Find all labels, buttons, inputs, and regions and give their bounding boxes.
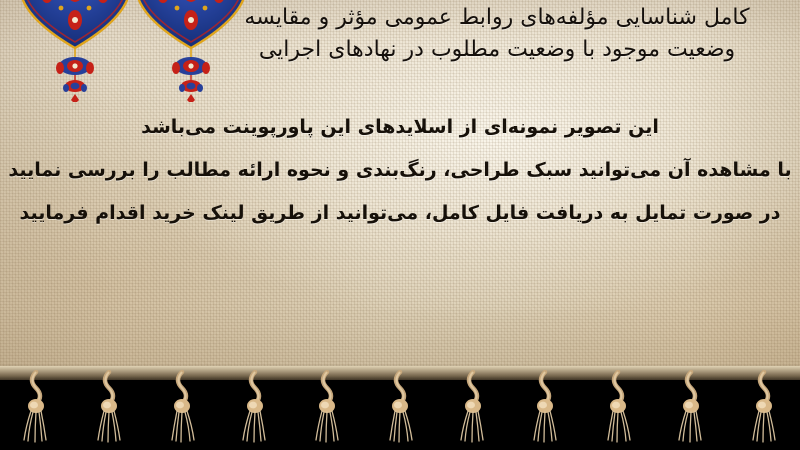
slide-title: کامل شناسایی مؤلفه‌های روابط عمومی مؤثر … (212, 2, 782, 66)
body-line-3: در صورت تمایل به دریافت فایل کامل، می‌تو… (8, 198, 792, 229)
fringe-tassel (668, 370, 714, 444)
fringe-tassel (13, 370, 59, 444)
body-line-1: این تصویر نمونه‌ای از اسلایدهای این پاور… (8, 112, 792, 143)
text-layer: کامل شناسایی مؤلفه‌های روابط عمومی مؤثر … (0, 0, 800, 374)
fringe-tassel (450, 370, 496, 444)
fringe-tassel (86, 370, 132, 444)
fringe-tassel (377, 370, 423, 444)
fringe-tassel (304, 370, 350, 444)
fringe-tassel (159, 370, 205, 444)
carpet-fringe (0, 366, 800, 450)
fringe-tassel (232, 370, 278, 444)
fringe-tassel (741, 370, 787, 444)
title-line-2: وضعیت موجود با وضعیت مطلوب در نهادهای اج… (212, 34, 782, 66)
fringe-tassel (595, 370, 641, 444)
title-line-1: کامل شناسایی مؤلفه‌های روابط عمومی مؤثر … (212, 2, 782, 34)
slide-canvas: کامل شناسایی مؤلفه‌های روابط عمومی مؤثر … (0, 0, 800, 450)
body-line-2: با مشاهده آن می‌توانید سبک طراحی، رنگ‌بن… (8, 155, 792, 186)
slide-body: این تصویر نمونه‌ای از اسلایدهای این پاور… (8, 112, 792, 229)
fringe-tassel (522, 370, 568, 444)
